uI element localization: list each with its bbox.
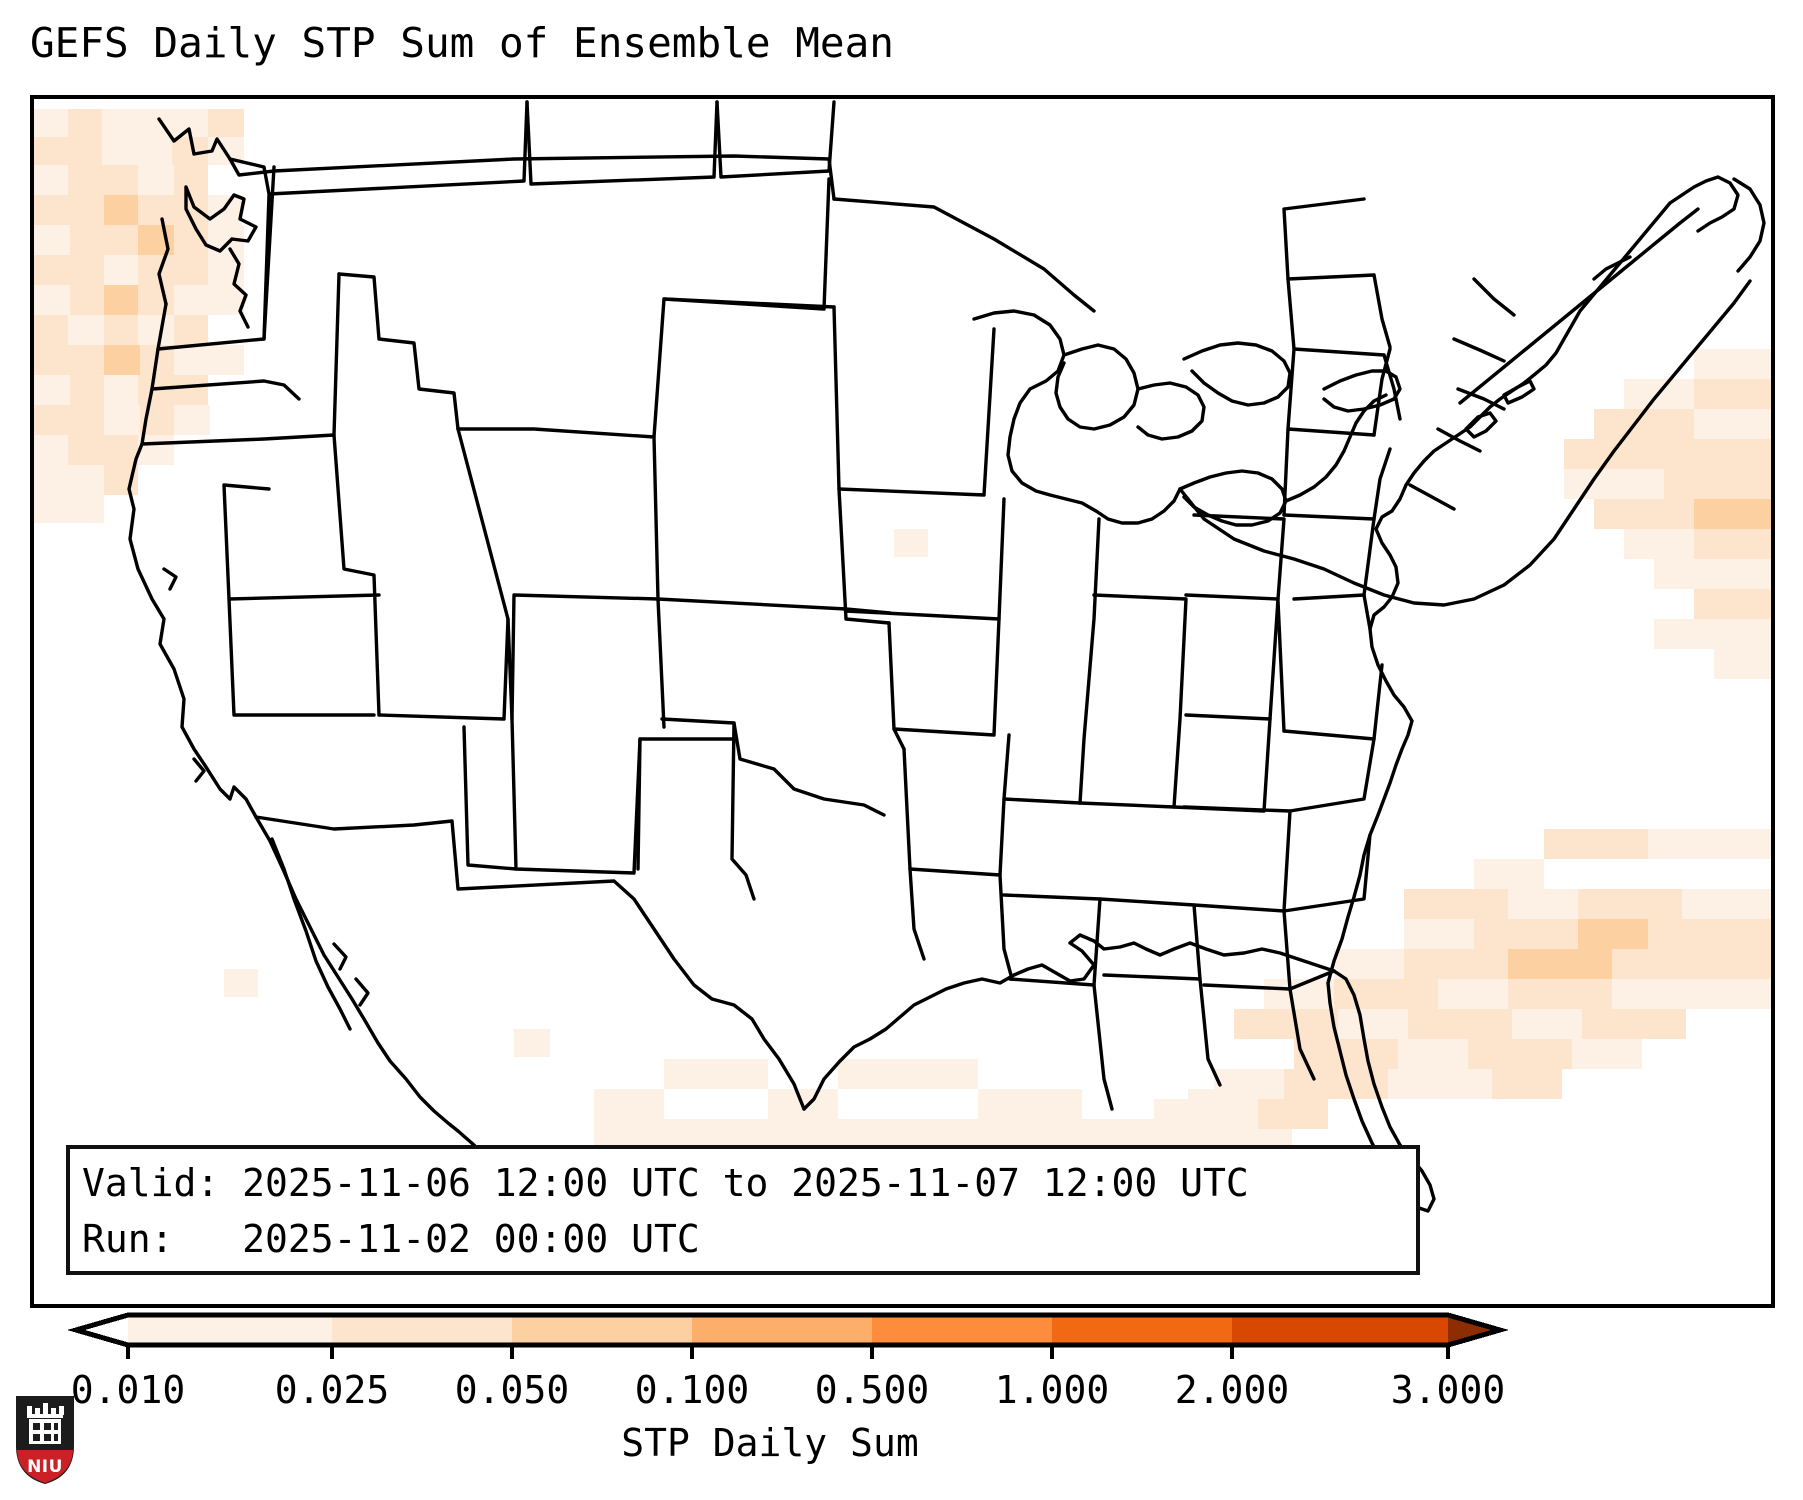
colorbar-band [332,1315,512,1345]
colorbar-band [872,1315,1052,1345]
page-title: GEFS Daily STP Sum of Ensemble Mean [30,18,894,68]
map-panel[interactable] [30,95,1775,1308]
colorbar-tick-label: 0.100 [635,1368,749,1412]
colorbar-axis-label: STP Daily Sum [0,1420,1540,1466]
colorbar-tick-label: 0.025 [275,1368,389,1412]
colorbar-band [1232,1315,1448,1345]
colorbar-tick-label: 2.000 [1175,1368,1289,1412]
vancouver-island [186,187,256,251]
colorbar-band [128,1315,332,1345]
run-time-line: Run: 2025-11-02 00:00 UTC [82,1211,1416,1267]
gulf-coast [804,935,1334,1109]
forecast-info-box: Valid: 2025-11-06 12:00 UTC to 2025-11-0… [66,1145,1420,1275]
colorbar-tick-label: 0.010 [71,1368,185,1412]
colorbar-tick-label: 3.000 [1391,1368,1505,1412]
colorbar-tick-label: 1.000 [995,1368,1109,1412]
colorbar-tick-label: 0.500 [815,1368,929,1412]
colorbar-tick-labels: 0.0100.0250.0500.1000.5001.0002.0003.000 [0,1368,1803,1416]
state-borders [158,167,274,349]
colorbar[interactable] [0,1305,1803,1365]
niu-wordmark: NIU [27,1457,63,1477]
geography-layer [34,99,1771,1304]
colorbar-bands [76,1315,1500,1345]
colorbar-band [692,1315,872,1345]
us-mexico-border [256,817,804,1109]
us-west-coast [129,304,256,817]
valid-time-line: Valid: 2025-11-06 12:00 UTC to 2025-11-0… [82,1155,1416,1211]
great-lakes [974,311,1180,523]
colorbar-tick-label: 0.050 [455,1368,569,1412]
niu-logo: NIU [14,1394,76,1486]
baja-california [256,817,458,1131]
colorbar-band [1052,1315,1232,1345]
colorbar-band [512,1315,692,1345]
